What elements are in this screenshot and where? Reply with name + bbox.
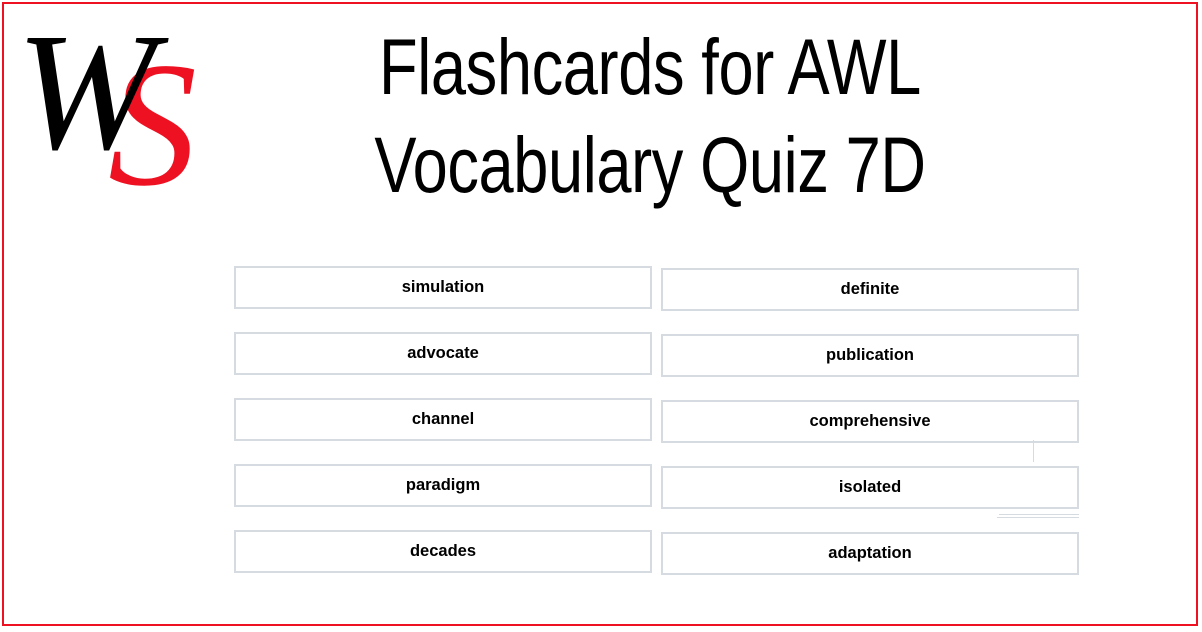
flashcards-page: S W Flashcards for AWL Vocabulary Quiz 7… [0, 0, 1202, 632]
svg-text:W: W [16, 6, 169, 185]
flashcard-label: comprehensive [809, 413, 930, 430]
flashcard-row: paradigm isolated [234, 464, 1079, 509]
flashcard-label: simulation [402, 279, 485, 296]
page-header: S W Flashcards for AWL Vocabulary Quiz 7… [0, 0, 1202, 232]
logo-letter-w: W [16, 6, 169, 185]
flashcard-right-1[interactable]: definite [661, 268, 1079, 311]
ws-logo: S W [12, 6, 202, 202]
flashcard-label: channel [412, 411, 474, 428]
flashcard-label: adaptation [828, 545, 911, 562]
flashcard-label: decades [410, 543, 476, 560]
flashcard-left-1[interactable]: simulation [234, 266, 652, 309]
flashcard-label: paradigm [406, 477, 480, 494]
flashcard-label: isolated [839, 479, 901, 496]
flashcard-row: channel comprehensive [234, 398, 1079, 443]
flashcard-label: advocate [407, 345, 479, 362]
flashcard-left-5[interactable]: decades [234, 530, 652, 573]
page-title-line-1: Flashcards for AWL [298, 18, 1002, 116]
page-title: Flashcards for AWL Vocabulary Quiz 7D [210, 18, 1090, 214]
flashcard-left-3[interactable]: channel [234, 398, 652, 441]
flashcard-right-2[interactable]: publication [661, 334, 1079, 377]
flashcard-row: advocate publication [234, 332, 1079, 377]
page-title-line-2: Vocabulary Quiz 7D [298, 116, 1002, 214]
flashcard-right-5[interactable]: adaptation [661, 532, 1079, 575]
flashcard-row: decades adaptation [234, 530, 1079, 575]
flashcard-left-4[interactable]: paradigm [234, 464, 652, 507]
flashcard-row: simulation definite [234, 266, 1079, 311]
flashcard-right-3[interactable]: comprehensive [661, 400, 1079, 443]
flashcard-label: publication [826, 347, 914, 364]
flashcard-label: definite [841, 281, 900, 298]
flashcard-left-2[interactable]: advocate [234, 332, 652, 375]
flashcard-right-4[interactable]: isolated [661, 466, 1079, 509]
flashcard-grid: simulation definite advocate publication… [234, 266, 1079, 575]
